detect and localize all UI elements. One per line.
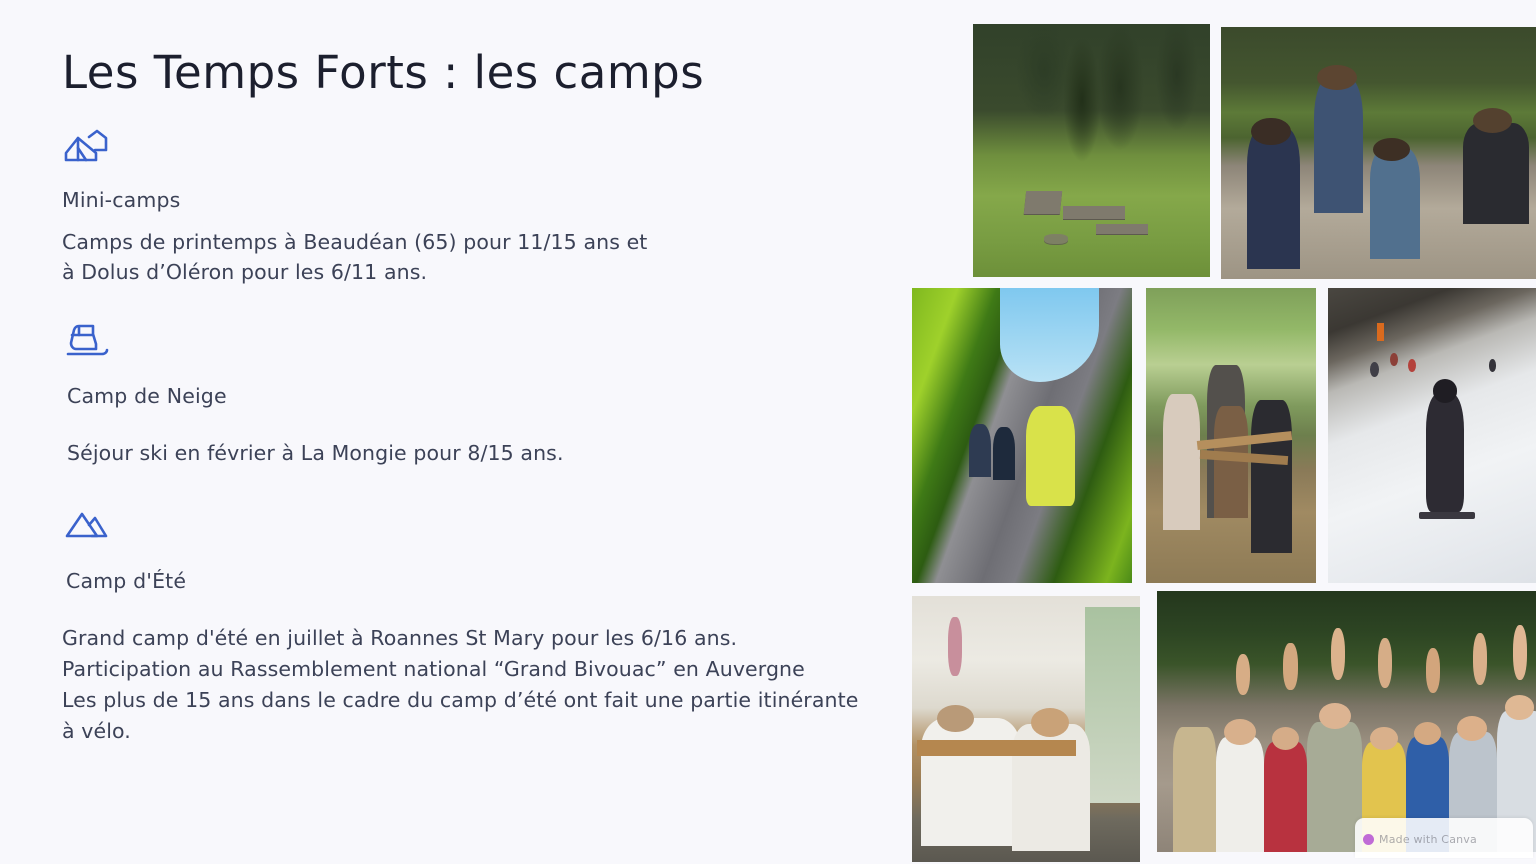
photo-ruins: Ruines de pierre dans une clairière de m… [973, 24, 1210, 277]
section-body-summer-camp: Grand camp d'été en juillet à Roannes St… [62, 623, 858, 747]
section-heading-mini-camps: Mini-camps [62, 188, 647, 212]
watermark-label: Made with Canva [1379, 833, 1477, 846]
section-body-snow-camp: Séjour ski en février à La Mongie pour 8… [62, 438, 564, 468]
section-summer-camp: Camp d'Été Grand camp d'été en juillet à… [62, 505, 858, 747]
photo-collage: Ruines de pierre dans une clairière de m… [860, 0, 1536, 864]
photo-group: Grand groupe d'enfants les mains levées … [1157, 591, 1536, 852]
mountain-icon [62, 505, 118, 549]
content-column: Les Temps Forts : les camps Mini-camps C… [0, 0, 860, 864]
ski-boot-icon [62, 320, 118, 364]
canva-watermark-badge[interactable]: Made with Canva [1355, 818, 1533, 858]
photo-stonewall: Enfants et adulte construisant un mur en… [1221, 27, 1536, 279]
section-heading-summer-camp: Camp d'Été [62, 569, 858, 593]
tent-icon [62, 128, 118, 172]
canva-logo-icon [1363, 834, 1374, 845]
page-title: Les Temps Forts : les camps [62, 46, 704, 99]
section-body-mini-camps: Camps de printemps à Beaudéan (65) pour … [62, 227, 647, 287]
photo-ski: Jeune skieur sur une piste enneigée en m… [1328, 288, 1536, 583]
section-heading-snow-camp: Camp de Neige [62, 384, 564, 408]
slide-canvas: Les Temps Forts : les camps Mini-camps C… [0, 0, 1536, 864]
photo-cycling: Groupe à vélo sur une route de campagne … [912, 288, 1132, 583]
photo-craft: Jeunes filles faisant des activités manu… [912, 596, 1140, 862]
photo-firewood: Enfants portant des fagots de bois en fo… [1146, 288, 1316, 583]
section-mini-camps: Mini-camps Camps de printemps à Beaudéan… [62, 128, 647, 287]
section-snow-camp: Camp de Neige Séjour ski en février à La… [62, 320, 564, 468]
